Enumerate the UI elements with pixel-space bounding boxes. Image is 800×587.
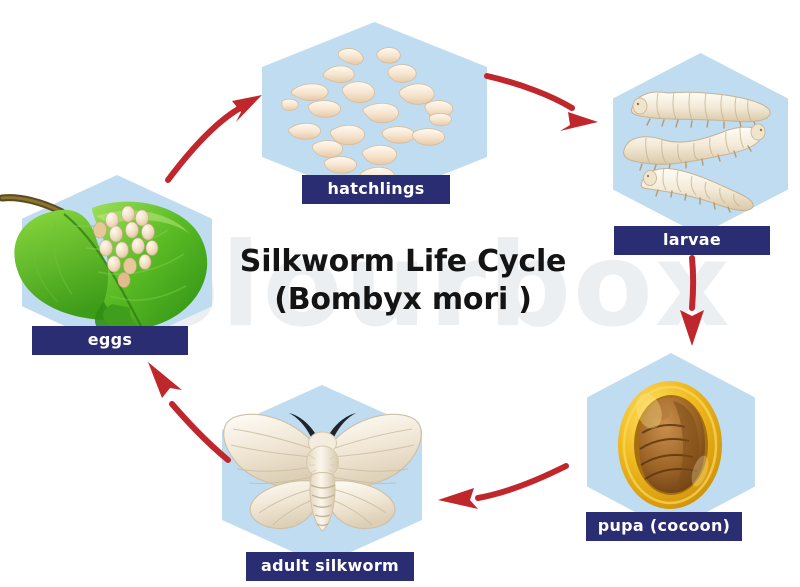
- label-adult-silkworm[interactable]: adult silkworm: [246, 552, 414, 581]
- arrow-larvae-to-pupa: [680, 258, 704, 346]
- adult-silkworm-illustration: [215, 395, 430, 540]
- silkworm-life-cycle-diagram: colourbox: [0, 0, 800, 587]
- arrow-pupa-to-adult: [438, 466, 566, 509]
- larva-top: [631, 92, 770, 128]
- larva-middle: [624, 124, 765, 171]
- hatchlings-illustration: [282, 45, 472, 185]
- label-eggs[interactable]: eggs: [32, 326, 188, 355]
- larvae-illustration: [620, 78, 785, 213]
- label-pupa[interactable]: pupa (cocoon): [586, 512, 742, 541]
- page-title: Silkworm Life Cycle (Bombyx mori ): [238, 243, 568, 318]
- title-line-1: Silkworm Life Cycle: [240, 244, 566, 279]
- label-hatchlings[interactable]: hatchlings: [302, 175, 450, 204]
- label-larvae[interactable]: larvae: [614, 226, 770, 255]
- title-line-2: (Bombyx mori ): [238, 281, 568, 319]
- pupa-cocoon-illustration: [605, 375, 735, 515]
- arrow-hatchlings-to-larvae: [487, 76, 598, 131]
- eggs-leaf-illustration: [0, 168, 240, 348]
- larva-bottom: [641, 168, 753, 212]
